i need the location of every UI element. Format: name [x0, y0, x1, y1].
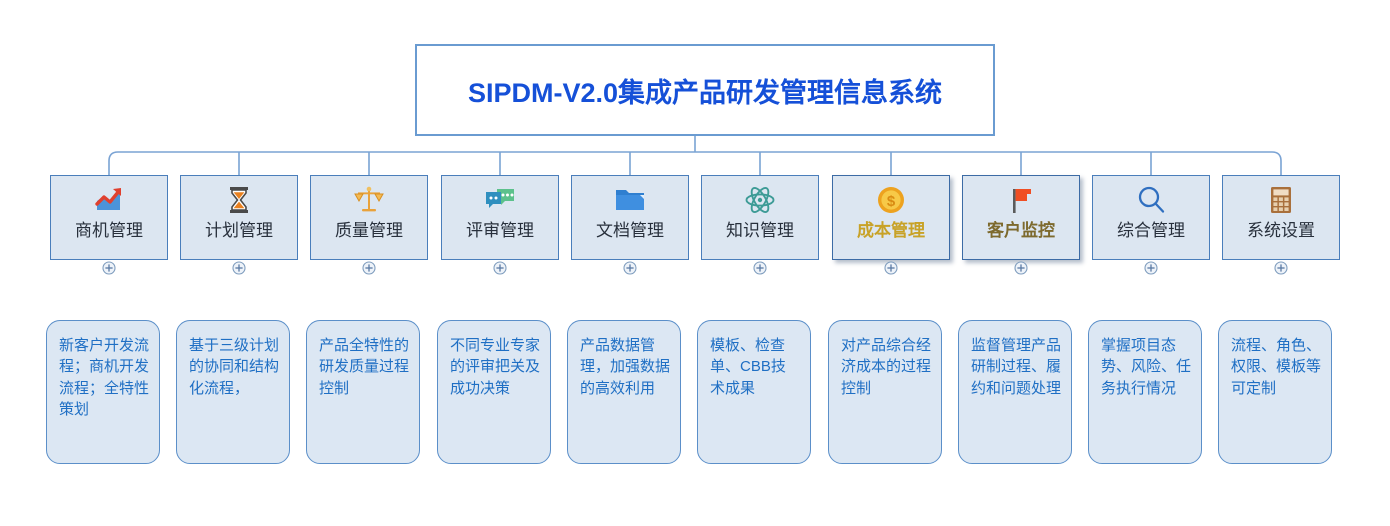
module-node-8[interactable]: 客户监控: [962, 175, 1080, 260]
module-description-2: 基于三级计划的协同和结构化流程，: [176, 320, 290, 464]
module-description-9: 掌握项目态势、风险、任务执行情况: [1088, 320, 1202, 464]
module-description-1: 新客户开发流程；商机开发流程；全特性策划: [46, 320, 160, 464]
module-description-10: 流程、角色、权限、模板等可定制: [1218, 320, 1332, 464]
module-node-3[interactable]: 质量管理: [310, 175, 428, 260]
module-node-7[interactable]: $ 成本管理: [832, 175, 950, 260]
module-node-9[interactable]: 综合管理: [1092, 175, 1210, 260]
hourglass-icon: [222, 183, 256, 217]
circled-plus-icon[interactable]: [102, 261, 116, 275]
red-flag-icon: [1004, 183, 1038, 217]
circled-plus-icon[interactable]: [1144, 261, 1158, 275]
circled-plus-icon[interactable]: [884, 261, 898, 275]
module-description-5: 产品数据管理，加强数据的高效利用: [567, 320, 681, 464]
circled-plus-icon[interactable]: [623, 261, 637, 275]
module-description-6: 模板、检查单、CBB技术成果: [697, 320, 811, 464]
module-description-8: 监督管理产品研制过程、履约和问题处理: [958, 320, 1072, 464]
circled-plus-icon[interactable]: [1274, 261, 1288, 275]
page-title: SIPDM-V2.0集成产品研发管理信息系统: [468, 71, 942, 110]
module-node-label: 质量管理: [335, 222, 403, 239]
module-node-2[interactable]: 计划管理: [180, 175, 298, 260]
magnifier-icon: [1134, 183, 1168, 217]
chat-bubbles-icon: [483, 183, 517, 217]
module-node-label: 知识管理: [726, 222, 794, 239]
module-node-4[interactable]: 评审管理: [441, 175, 559, 260]
module-node-1[interactable]: 商机管理: [50, 175, 168, 260]
module-node-10[interactable]: 系统设置: [1222, 175, 1340, 260]
module-node-6[interactable]: 知识管理: [701, 175, 819, 260]
module-description-7: 对产品综合经济成本的过程控制: [828, 320, 942, 464]
growth-chart-icon: [92, 183, 126, 217]
module-node-label: 商机管理: [75, 222, 143, 239]
module-node-label: 系统设置: [1247, 222, 1315, 239]
module-node-label: 评审管理: [466, 222, 534, 239]
module-node-label: 文档管理: [596, 222, 664, 239]
circled-plus-icon[interactable]: [753, 261, 767, 275]
folder-icon: [613, 183, 647, 217]
circled-plus-icon[interactable]: [362, 261, 376, 275]
gold-coin-icon: $: [874, 183, 908, 217]
svg-text:$: $: [887, 193, 896, 210]
diagram-canvas: SIPDM-V2.0集成产品研发管理信息系统 商机管理 计划管理 质量管理: [0, 0, 1390, 526]
module-node-label: 客户监控: [987, 222, 1055, 239]
balance-scales-icon: [352, 183, 386, 217]
system-title-box: SIPDM-V2.0集成产品研发管理信息系统: [415, 44, 995, 136]
module-description-4: 不同专业专家的评审把关及成功决策: [437, 320, 551, 464]
module-node-label: 成本管理: [857, 222, 925, 239]
circled-plus-icon[interactable]: [232, 261, 246, 275]
circled-plus-icon[interactable]: [493, 261, 507, 275]
circled-plus-icon[interactable]: [1014, 261, 1028, 275]
atom-icon: [743, 183, 777, 217]
module-node-5[interactable]: 文档管理: [571, 175, 689, 260]
module-node-label: 综合管理: [1117, 222, 1185, 239]
module-node-label: 计划管理: [205, 222, 273, 239]
calculator-icon: [1264, 183, 1298, 217]
module-description-3: 产品全特性的研发质量过程控制: [306, 320, 420, 464]
